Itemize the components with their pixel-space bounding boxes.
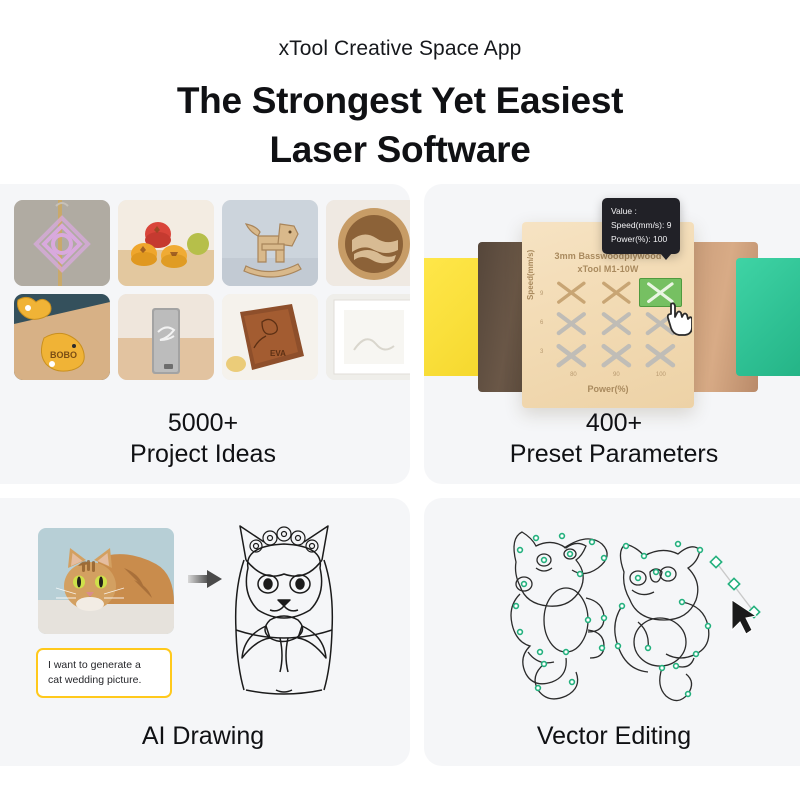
- parameter-tooltip: Value : Speed(mm/s): 9 Power(%): 100: [602, 198, 680, 254]
- x-axis-ticks: 80 90 100: [552, 372, 684, 378]
- test-cell-r2c1[interactable]: [595, 341, 638, 370]
- card-vector-editing[interactable]: Vector Editing: [424, 498, 800, 766]
- headline-line-2: Laser Software: [0, 126, 800, 175]
- tile-acrylic-flower-earrings[interactable]: [14, 200, 110, 286]
- y-axis-ticks: 9 6 3: [540, 280, 543, 366]
- y-axis-label: Speed(mm/s): [526, 250, 535, 300]
- tooltip-power: Power(%): 100: [611, 233, 671, 247]
- caption-vector-editing: Vector Editing: [424, 721, 800, 752]
- vector-path-cat-left: [511, 532, 607, 699]
- tooltip-title: Value :: [611, 205, 671, 219]
- card-preset-parameters[interactable]: 3mm Basswoodplywood xTool M1-10W Speed(m…: [424, 184, 800, 484]
- hand-cursor-icon: [662, 302, 692, 336]
- test-cell-r1c0[interactable]: [550, 309, 593, 338]
- card-ai-drawing[interactable]: I want to generate a cat wedding picture…: [0, 498, 410, 766]
- test-cell-r1c1[interactable]: [595, 309, 638, 338]
- tile-engraved-leather-pouch[interactable]: EVA: [222, 294, 318, 380]
- vector-path-cat-right: [615, 544, 709, 701]
- ai-prompt-input[interactable]: I want to generate a cat wedding picture…: [36, 648, 172, 698]
- ai-generated-line-art: [218, 516, 350, 696]
- page-title: The Strongest Yet Easiest Laser Software: [0, 77, 800, 175]
- source-photo: [38, 528, 174, 634]
- material-green-acrylic[interactable]: [736, 258, 800, 376]
- tile-engraved-macarons[interactable]: [118, 200, 214, 286]
- x-tick-2: 100: [656, 372, 666, 378]
- caption-preset-parameters: 400+ Preset Parameters: [424, 408, 800, 470]
- y-tick-2: 3: [540, 349, 543, 355]
- svg-text:BOBO: BOBO: [50, 350, 77, 360]
- tooltip-speed: Speed(mm/s): 9: [611, 219, 671, 233]
- ai-drawing-label: AI Drawing: [0, 721, 410, 752]
- prompt-line-1: I want to generate a: [48, 658, 160, 673]
- tile-wooden-rocking-horse[interactable]: [222, 200, 318, 286]
- x-tick-1: 90: [613, 372, 620, 378]
- y-tick-0: 9: [540, 291, 543, 297]
- arrow-cursor-icon: [732, 600, 756, 634]
- tile-paper-craft-frame[interactable]: [326, 294, 410, 380]
- preset-parameters-count: 400+: [424, 408, 800, 439]
- tile-engraved-metal-card[interactable]: [118, 294, 214, 380]
- test-cell-r2c0[interactable]: [550, 341, 593, 370]
- test-cell-r0c1[interactable]: [595, 278, 638, 307]
- promo-page: xTool Creative Space App The Strongest Y…: [0, 0, 800, 800]
- caption-ai-drawing: AI Drawing: [0, 721, 410, 752]
- svg-text:EVA: EVA: [270, 349, 286, 358]
- tile-leather-dog-tags[interactable]: BOBO: [14, 294, 110, 380]
- vector-canvas[interactable]: [424, 502, 800, 712]
- project-photo-grid: BOBO: [14, 200, 410, 380]
- vector-editing-label: Vector Editing: [424, 721, 800, 752]
- prompt-line-2: cat wedding picture.: [48, 673, 160, 688]
- board-machine-name: xTool M1-10W: [522, 263, 694, 276]
- preset-parameters-label: Preset Parameters: [424, 439, 800, 470]
- test-cell-r2c2[interactable]: [639, 341, 682, 370]
- y-tick-1: 6: [540, 320, 543, 326]
- test-cell-r0c0[interactable]: [550, 278, 593, 307]
- x-axis-label: Power(%): [522, 384, 694, 394]
- headline-line-1: The Strongest Yet Easiest: [0, 77, 800, 126]
- feature-card-grid: BOBO: [0, 184, 800, 766]
- project-ideas-count: 5000+: [0, 408, 410, 439]
- x-tick-0: 80: [570, 372, 577, 378]
- card-project-ideas[interactable]: BOBO: [0, 184, 410, 484]
- page-header: xTool Creative Space App The Strongest Y…: [0, 0, 800, 175]
- app-name: xTool Creative Space App: [0, 36, 800, 61]
- tile-engraved-wood-bowl[interactable]: [326, 200, 410, 286]
- project-ideas-label: Project Ideas: [0, 439, 410, 470]
- material-stack: 3mm Basswoodplywood xTool M1-10W Speed(m…: [424, 206, 800, 411]
- caption-project-ideas: 5000+ Project Ideas: [0, 408, 410, 470]
- transform-arrow-icon: [188, 568, 222, 590]
